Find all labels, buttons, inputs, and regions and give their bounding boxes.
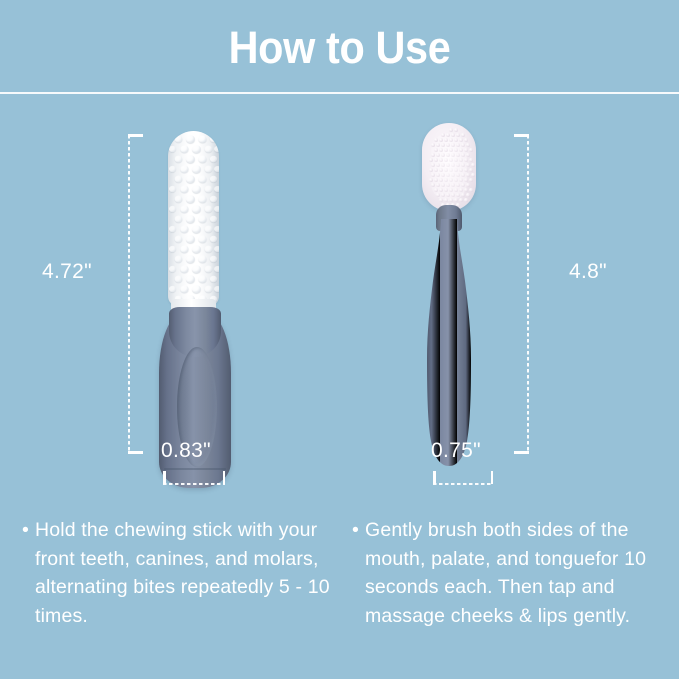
chewing-stick-nubs [168, 131, 219, 306]
product-panel-chewing-stick: 4.72" 0.83" [0, 93, 339, 508]
bullet-icon: • [352, 516, 365, 545]
instruction-item: • Gently brush both sides of the mouth, … [352, 516, 670, 630]
instruction-text: Hold the chewing stick with your front t… [35, 516, 340, 630]
page-title: How to Use [27, 22, 652, 74]
height-dimension-cap-top-toothbrush [514, 134, 529, 137]
height-dimension-cap-bottom-toothbrush [514, 451, 529, 454]
instruction-column-chewing-stick: • Hold the chewing stick with your front… [22, 516, 340, 630]
bullet-icon: • [22, 516, 35, 545]
instruction-item: • Hold the chewing stick with your front… [22, 516, 340, 630]
width-dimension-cap-left-toothbrush [433, 471, 436, 484]
height-dimension-line-toothbrush [527, 135, 529, 453]
height-label-toothbrush: 4.8" [569, 260, 607, 284]
instructions-section: • Hold the chewing stick with your front… [0, 516, 679, 679]
toothbrush-handle [424, 219, 474, 467]
infographic-page: How to Use 4.72" 0. [0, 0, 679, 679]
width-label-toothbrush: 0.75" [431, 439, 481, 463]
instruction-column-toothbrush: • Gently brush both sides of the mouth, … [352, 516, 670, 630]
instruction-text: Gently brush both sides of the mouth, pa… [365, 516, 670, 630]
width-label-chewing-stick: 0.83" [161, 439, 211, 463]
toothbrush-brush-head [422, 123, 476, 211]
product-illustrations: 4.72" 0.83" 4.8" [0, 93, 679, 508]
height-dimension-cap-bottom-chewing-stick [128, 451, 143, 454]
width-dimension-cap-right-toothbrush [491, 471, 494, 484]
width-dimension-cap-left-chewing-stick [163, 471, 166, 484]
width-dimension-line-chewing-stick [163, 483, 225, 485]
height-dimension-cap-top-chewing-stick [128, 134, 143, 137]
height-label-chewing-stick: 4.72" [42, 260, 92, 284]
width-dimension-cap-right-chewing-stick [223, 471, 226, 484]
chewing-stick-illustration [155, 131, 241, 456]
chewing-stick-base-seam [164, 468, 226, 470]
height-dimension-line-chewing-stick [128, 135, 130, 453]
width-dimension-line-toothbrush [433, 483, 493, 485]
product-panel-toothbrush: 4.8" [340, 93, 679, 508]
toothbrush-illustration [400, 123, 500, 468]
header: How to Use [0, 0, 679, 93]
